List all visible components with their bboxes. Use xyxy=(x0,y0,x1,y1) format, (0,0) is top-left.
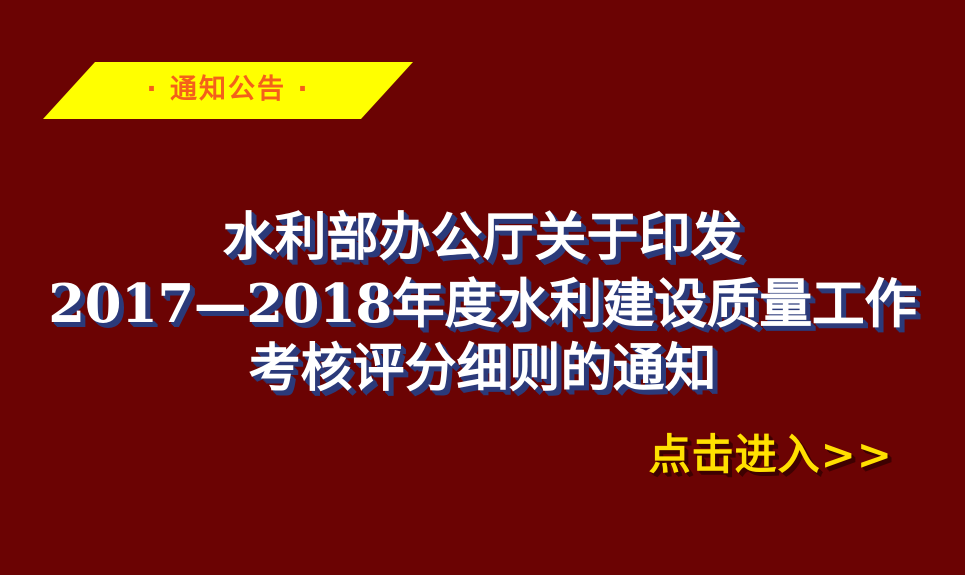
title-line-3: 考核评分细则的通知 xyxy=(0,343,965,395)
enter-link[interactable]: 点击进入>> xyxy=(649,434,893,476)
announcement-title: 水利部办公厅关于印发 2017—2018年度水利建设质量工作 考核评分细则的通知 xyxy=(0,212,965,395)
ribbon-label: · 通知公告 · xyxy=(43,62,413,119)
notice-ribbon-tag: · 通知公告 · xyxy=(43,62,413,119)
announcement-banner: · 通知公告 · 水利部办公厅关于印发 2017—2018年度水利建设质量工作 … xyxy=(0,0,965,575)
title-line-1: 水利部办公厅关于印发 xyxy=(0,212,965,264)
title-line-2: 2017—2018年度水利建设质量工作 xyxy=(0,278,965,331)
